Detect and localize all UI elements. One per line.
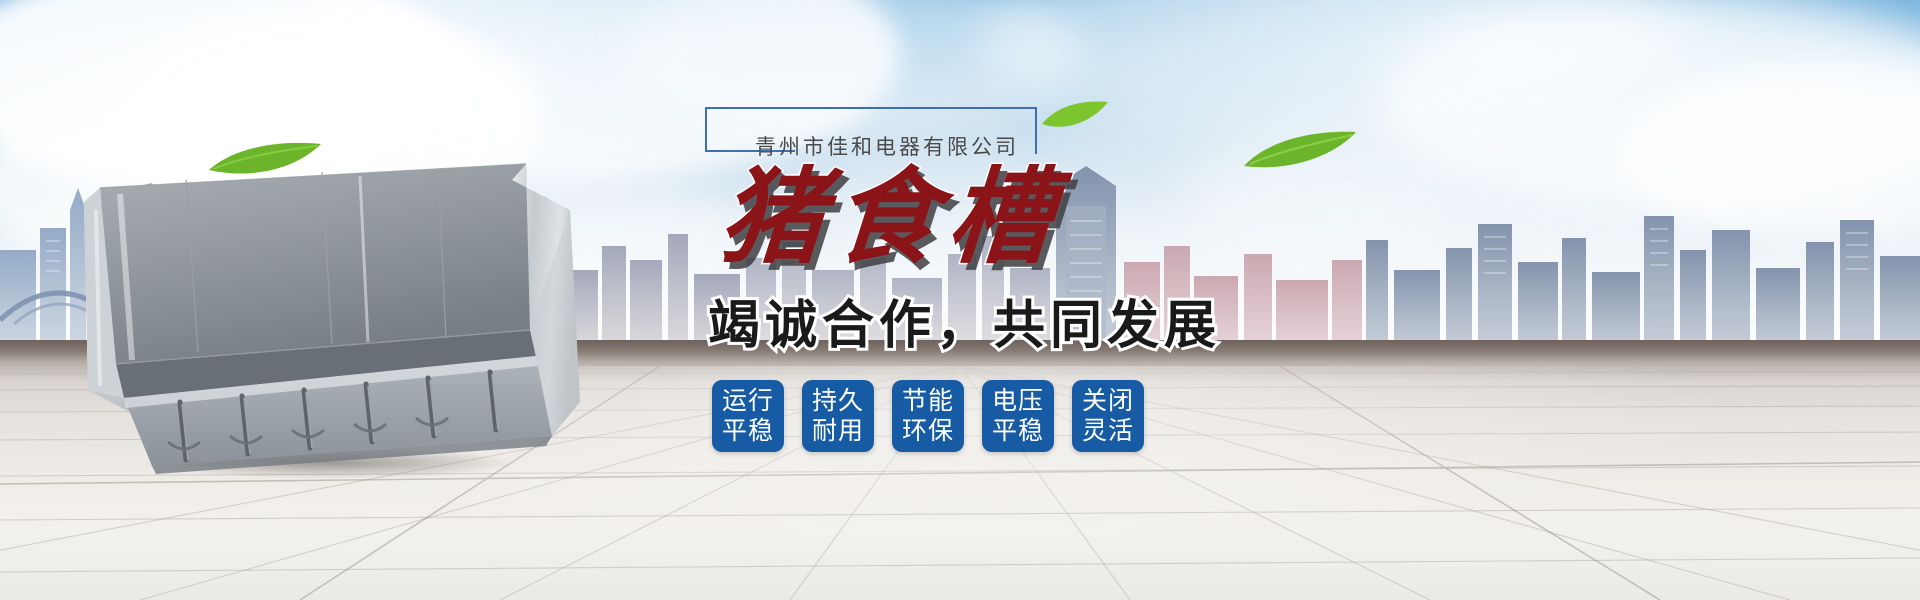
feature-badge-5-line2: 灵活: [1082, 416, 1134, 447]
page-title: 猪食槽: [716, 165, 1065, 269]
feature-badge-1[interactable]: 运行 平稳: [712, 380, 784, 452]
feature-badge-5[interactable]: 关闭 灵活: [1072, 380, 1144, 452]
feature-badge-3[interactable]: 节能 环保: [892, 380, 964, 452]
promo-banner: 青州市佳和电器有限公司 猪食槽 竭诚合作，共同发展 运行 平稳 持久 耐用 节能…: [0, 0, 1920, 600]
banner-copy: 青州市佳和电器有限公司 猪食槽 竭诚合作，共同发展 运行 平稳 持久 耐用 节能…: [680, 95, 1400, 555]
feature-badge-1-line1: 运行: [722, 386, 774, 417]
feature-badge-2-line2: 耐用: [812, 416, 864, 447]
feature-badge-3-line1: 节能: [902, 386, 954, 417]
product-image-pig-feeder-trough: [60, 150, 620, 480]
feature-badge-4-line1: 电压: [992, 386, 1044, 417]
feature-badge-2[interactable]: 持久 耐用: [802, 380, 874, 452]
feature-badge-3-line2: 环保: [902, 416, 954, 447]
feature-badge-list: 运行 平稳 持久 耐用 节能 环保 电压 平稳 关闭 灵活: [712, 380, 1144, 452]
feature-badge-5-line1: 关闭: [1082, 386, 1134, 417]
feature-badge-4-line2: 平稳: [992, 416, 1044, 447]
slogan: 竭诚合作，共同发展: [708, 300, 1221, 352]
feature-badge-1-line2: 平稳: [722, 416, 774, 447]
leaf-icon: [205, 140, 325, 180]
feature-badge-2-line1: 持久: [812, 386, 864, 417]
feature-badge-4[interactable]: 电压 平稳: [982, 380, 1054, 452]
